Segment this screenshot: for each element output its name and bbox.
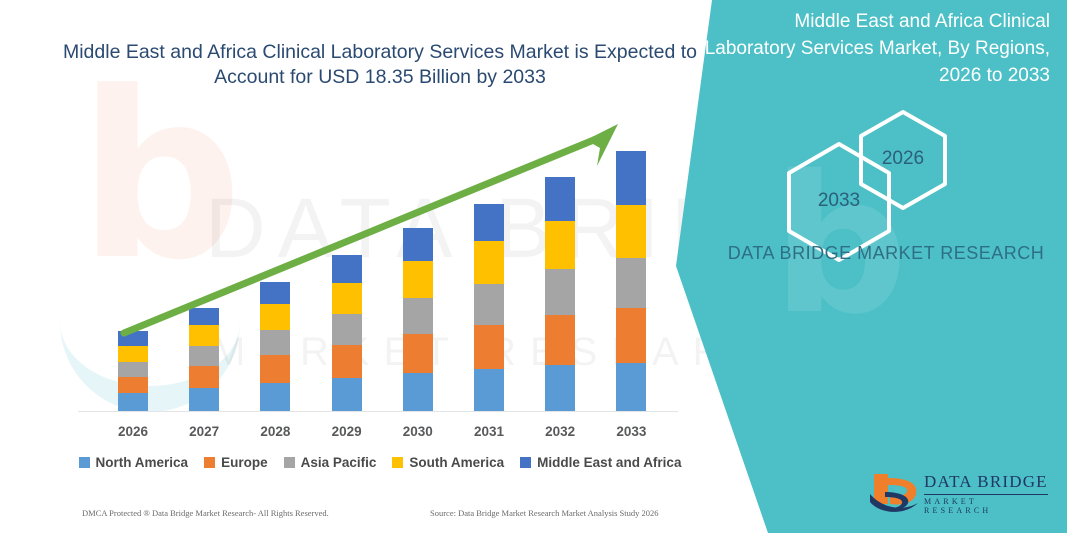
footer-source: Source: Data Bridge Market Research Mark… xyxy=(430,508,659,518)
legend-item[interactable]: South America xyxy=(392,455,504,470)
bar-2027[interactable] xyxy=(189,308,219,411)
bar-segment[interactable] xyxy=(474,284,504,325)
bar-segment[interactable] xyxy=(403,334,433,373)
bar-segment[interactable] xyxy=(545,221,575,269)
bar-2029[interactable] xyxy=(332,255,362,411)
bar-segment[interactable] xyxy=(545,365,575,411)
bar-segment[interactable] xyxy=(189,308,219,325)
legend-item[interactable]: Europe xyxy=(204,455,268,470)
chart-panel: b DATA BRIDGE MARKET RESEARCH Middle Eas… xyxy=(0,0,760,533)
x-tick-2029: 2029 xyxy=(317,424,377,439)
bar-segment[interactable] xyxy=(616,258,646,308)
x-tick-2033: 2033 xyxy=(601,424,661,439)
legend-item[interactable]: Asia Pacific xyxy=(284,455,377,470)
bar-segment[interactable] xyxy=(616,151,646,205)
bar-segment[interactable] xyxy=(260,383,290,411)
bar-segment[interactable] xyxy=(545,177,575,221)
hexagon-2033-label: 2033 xyxy=(783,190,895,212)
logo-subtitle: MARKET RESEARCH xyxy=(924,497,1048,515)
bar-segment[interactable] xyxy=(332,283,362,314)
bar-segment[interactable] xyxy=(545,269,575,315)
bar-segment[interactable] xyxy=(260,330,290,355)
bar-segment[interactable] xyxy=(118,362,148,377)
legend-swatch-icon xyxy=(284,457,295,468)
bar-segment[interactable] xyxy=(260,304,290,330)
bar-segment[interactable] xyxy=(616,308,646,363)
bar-segment[interactable] xyxy=(403,261,433,298)
footer-copyright: DMCA Protected ® Data Bridge Market Rese… xyxy=(82,508,329,518)
logo-text-block: DATA BRIDGE MARKET RESEARCH xyxy=(924,472,1048,515)
bar-segment[interactable] xyxy=(403,298,433,334)
bar-segment[interactable] xyxy=(474,241,504,284)
bar-segment[interactable] xyxy=(474,325,504,369)
bar-segment[interactable] xyxy=(118,331,148,346)
logo-divider xyxy=(924,494,1048,495)
bar-2032[interactable] xyxy=(545,177,575,411)
bar-segment[interactable] xyxy=(616,205,646,258)
chart-plot-area: 20262027202820292030203120322033 xyxy=(0,0,760,533)
side-panel-title: Middle East and Africa Clinical Laborato… xyxy=(700,8,1050,89)
bar-segment[interactable] xyxy=(118,346,148,362)
logo-name: DATA BRIDGE xyxy=(924,472,1048,492)
bar-segment[interactable] xyxy=(260,282,290,304)
bar-2028[interactable] xyxy=(260,282,290,411)
legend-label: Europe xyxy=(221,455,268,470)
legend-label: North America xyxy=(96,455,189,470)
axis-baseline xyxy=(78,411,678,412)
logo-mark-icon xyxy=(868,470,922,516)
bar-segment[interactable] xyxy=(545,315,575,365)
legend-item[interactable]: Middle East and Africa xyxy=(520,455,681,470)
side-panel-brand: DATA BRIDGE MARKET RESEARCH xyxy=(716,238,1056,268)
bar-segment[interactable] xyxy=(403,373,433,411)
x-tick-2031: 2031 xyxy=(459,424,519,439)
bar-2033[interactable] xyxy=(616,151,646,411)
bar-segment[interactable] xyxy=(118,393,148,411)
x-tick-2026: 2026 xyxy=(103,424,163,439)
bar-segment[interactable] xyxy=(403,228,433,261)
bar-segment[interactable] xyxy=(189,366,219,388)
bar-segment[interactable] xyxy=(189,388,219,411)
legend-swatch-icon xyxy=(520,457,531,468)
legend-swatch-icon xyxy=(79,457,90,468)
bar-2030[interactable] xyxy=(403,228,433,411)
bar-segment[interactable] xyxy=(616,363,646,411)
bar-segment[interactable] xyxy=(260,355,290,383)
data-bridge-logo: DATA BRIDGE MARKET RESEARCH xyxy=(868,470,1048,518)
x-tick-2032: 2032 xyxy=(530,424,590,439)
legend-item[interactable]: North America xyxy=(79,455,189,470)
bar-segment[interactable] xyxy=(332,255,362,283)
bar-segment[interactable] xyxy=(332,345,362,378)
legend-label: Middle East and Africa xyxy=(537,455,681,470)
x-tick-2030: 2030 xyxy=(388,424,448,439)
x-tick-2027: 2027 xyxy=(174,424,234,439)
legend-label: South America xyxy=(409,455,504,470)
legend-swatch-icon xyxy=(204,457,215,468)
chart-legend: North AmericaEuropeAsia PacificSouth Ame… xyxy=(0,455,760,470)
x-tick-2028: 2028 xyxy=(245,424,305,439)
legend-swatch-icon xyxy=(392,457,403,468)
bar-segment[interactable] xyxy=(332,314,362,345)
bar-segment[interactable] xyxy=(118,377,148,393)
bar-segment[interactable] xyxy=(474,204,504,241)
bar-segment[interactable] xyxy=(332,378,362,411)
bar-2026[interactable] xyxy=(118,331,148,411)
bar-segment[interactable] xyxy=(189,325,219,346)
bar-segment[interactable] xyxy=(189,346,219,366)
bar-2031[interactable] xyxy=(474,204,504,411)
bar-segment[interactable] xyxy=(474,369,504,411)
legend-label: Asia Pacific xyxy=(301,455,377,470)
